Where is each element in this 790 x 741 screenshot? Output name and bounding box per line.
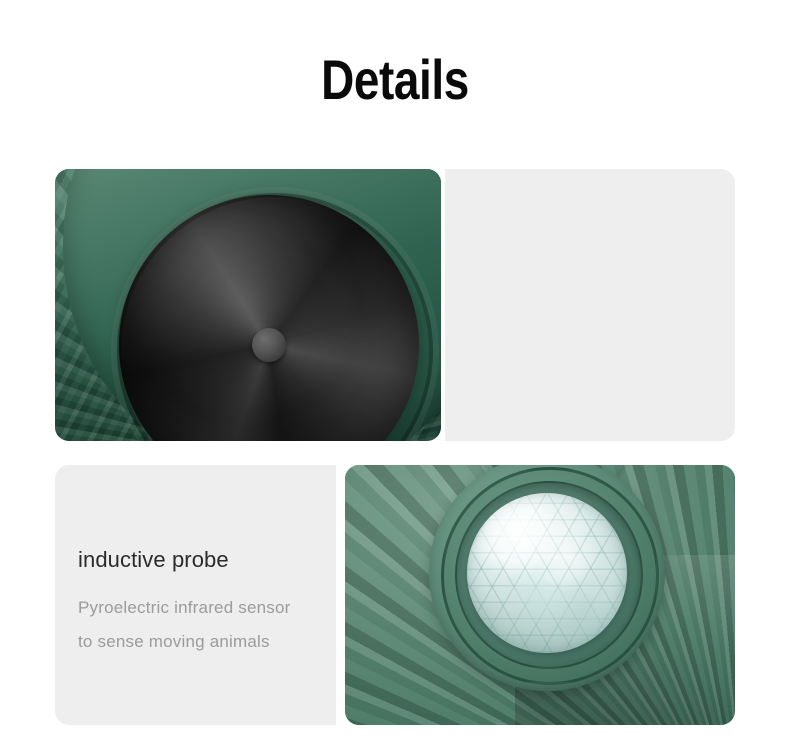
page-title: Details	[71, 52, 719, 108]
detail-card-inductive-probe: inductive probe Pyroelectric infrared se…	[55, 465, 735, 725]
card-body-line: Pyroelectric infrared sensor	[78, 598, 291, 618]
detail-card-ultrasonic-horn: ultrasonic horn Can emit high frequency …	[55, 169, 735, 441]
text-panel: inductive probe Pyroelectric infrared se…	[55, 465, 336, 725]
card-body-line: to sense moving animals	[78, 632, 270, 652]
text-panel: ultrasonic horn Can emit high frequency …	[445, 169, 735, 441]
pir-fresnel-lens	[467, 493, 627, 653]
product-photo-inductive-probe	[345, 465, 735, 725]
lens-gloss	[467, 493, 627, 653]
card-heading: inductive probe	[78, 547, 229, 573]
product-photo-ultrasonic-horn	[55, 169, 441, 441]
details-page: Details ultrasonic horn Can emit high fr…	[0, 0, 790, 741]
